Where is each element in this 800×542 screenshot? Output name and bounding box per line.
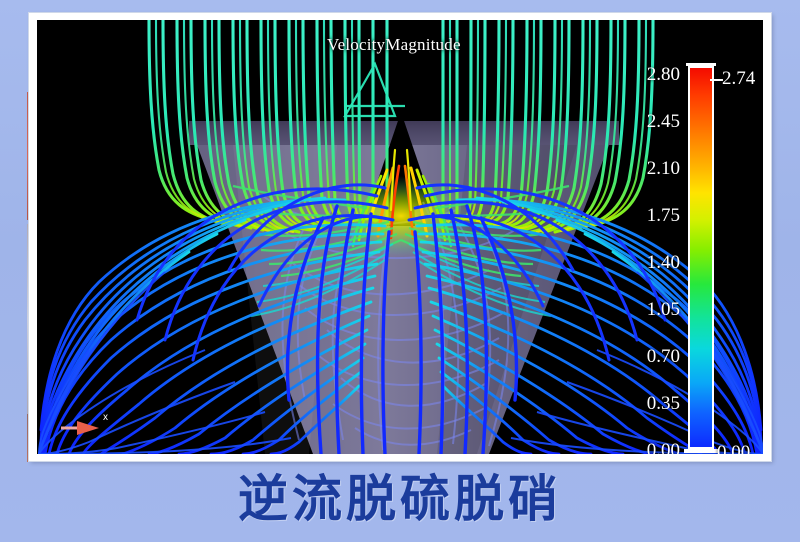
x-axis-arrow-icon (59, 412, 119, 440)
slide-caption: 逆流脱硫脱硝 (0, 468, 800, 530)
visualization-canvas: VelocityMagnitude 2.80 2.45 2.10 1.75 1.… (37, 20, 763, 454)
streamline-plot (37, 20, 763, 454)
visualization-frame: VelocityMagnitude 2.80 2.45 2.10 1.75 1.… (29, 13, 771, 461)
cfd-render (37, 20, 763, 454)
slide-root: VelocityMagnitude 2.80 2.45 2.10 1.75 1.… (0, 0, 800, 542)
axis-orientation-widget[interactable]: x (59, 412, 119, 440)
axis-label-x: x (103, 412, 108, 423)
